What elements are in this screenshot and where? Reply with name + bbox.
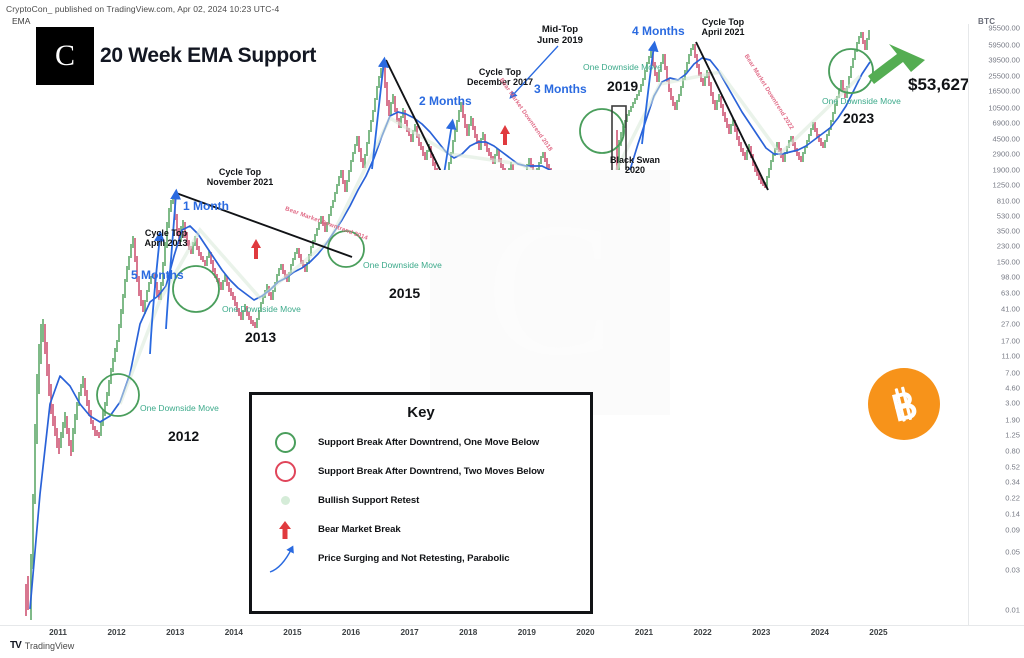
time-axis-tick: 2012 xyxy=(107,628,125,637)
tradingview-footer-label: TradingView xyxy=(25,641,75,651)
price-axis-tick: 39500.00 xyxy=(988,55,1020,64)
price-axis-tick: 10500.00 xyxy=(988,103,1020,112)
parabolic-arrow-2021 xyxy=(642,46,654,144)
price-axis-tick: 1900.00 xyxy=(993,165,1020,174)
time-axis-tick: 2014 xyxy=(225,628,243,637)
parabolic-arrow-2013-b xyxy=(166,194,176,329)
annotation-year-2015: 2015 xyxy=(389,285,420,301)
key-label-two-moves-below: Support Break After Downtrend, Two Moves… xyxy=(318,466,544,477)
time-axis-tick: 2015 xyxy=(283,628,301,637)
tradingview-logo-icon: TV xyxy=(10,640,21,651)
time-axis-tick: 2017 xyxy=(400,628,418,637)
price-axis-tick: 1.25 xyxy=(1005,431,1020,440)
price-axis-tick: 98.00 xyxy=(1001,273,1020,282)
price-axis-tick: 25500.00 xyxy=(988,71,1020,80)
bear-break-arrow-2014 xyxy=(251,239,261,259)
chart-page: CryptoCon_ published on TradingView.com,… xyxy=(0,0,1024,658)
price-axis-tick: 0.14 xyxy=(1005,510,1020,519)
annotation-months-5: 5 Months xyxy=(131,269,184,283)
price-axis-tick: 810.00 xyxy=(997,196,1020,205)
price-axis-tick: 59500.00 xyxy=(988,40,1020,49)
key-title: Key xyxy=(252,404,590,421)
price-axis-tick: 2900.00 xyxy=(993,150,1020,159)
price-axis-tick: 0.22 xyxy=(1005,494,1020,503)
price-axis-tick: 1.90 xyxy=(1005,415,1020,424)
price-axis-tick: 0.03 xyxy=(1005,566,1020,575)
annotation-months-3: 3 Months xyxy=(534,83,587,97)
time-axis-tick: 2018 xyxy=(459,628,477,637)
key-row-bear-market-break: Bear Market Break xyxy=(252,515,590,544)
annotation-months-1: 1 Month xyxy=(183,200,229,214)
price-axis-tick: 0.34 xyxy=(1005,478,1020,487)
price-axis-tick: 0.52 xyxy=(1005,462,1020,471)
annotation-year-2012: 2012 xyxy=(168,428,199,444)
price-axis-tick: 6900.00 xyxy=(993,119,1020,128)
tradingview-footer: TV TradingView xyxy=(10,640,74,651)
watermark-shade xyxy=(430,170,670,415)
red-ring-icon xyxy=(252,461,318,482)
annotation-months-4: 4 Months xyxy=(632,25,685,39)
time-axis-tick: 2011 xyxy=(49,628,67,637)
price-axis-tick: 0.09 xyxy=(1005,526,1020,535)
bitcoin-b-glyph xyxy=(881,381,927,427)
cryptocon-logo: C xyxy=(36,27,94,85)
price-axis-tick: 17.00 xyxy=(1001,336,1020,345)
annotation-year-2013: 2013 xyxy=(245,329,276,345)
key-rows: Support Break After Downtrend, One Move … xyxy=(252,428,590,573)
time-axis-tick: 2021 xyxy=(635,628,653,637)
price-axis-tick: 4.60 xyxy=(1005,383,1020,392)
cryptocon-logo-glyph: C xyxy=(55,41,75,71)
annotation-current-price: $53,627 xyxy=(908,75,969,95)
annotation-one-downside-move-2013: One Downside Move xyxy=(222,305,301,315)
key-row-parabolic: Price Surging and Not Retesting, Parabol… xyxy=(252,544,590,573)
time-axis-tick: 2020 xyxy=(576,628,594,637)
annotation-mid-top-june-2019: Mid-Top June 2019 xyxy=(520,25,600,47)
price-axis-tick: 27.00 xyxy=(1001,319,1020,328)
annotation-one-downside-move-2015: One Downside Move xyxy=(363,261,442,271)
key-row-one-move-below: Support Break After Downtrend, One Move … xyxy=(252,428,590,457)
attribution-text: CryptoCon_ published on TradingView.com,… xyxy=(6,4,279,14)
time-axis-tick: 2023 xyxy=(752,628,770,637)
key-row-two-moves-below: Support Break After Downtrend, Two Moves… xyxy=(252,457,590,486)
green-ring-icon xyxy=(252,432,318,453)
annotation-cycle-top-april-2021: Cycle Top April 2021 xyxy=(678,17,768,38)
price-axis-tick: 0.05 xyxy=(1005,547,1020,556)
price-axis-tick: 0.01 xyxy=(1005,606,1020,615)
annotation-one-downside-move-2012: One Downside Move xyxy=(140,404,219,414)
downtrend-line-2022 xyxy=(696,42,768,190)
annotation-cycle-top-april-2013: Cycle Top April 2013 xyxy=(136,228,196,249)
price-axis-tick: 16500.00 xyxy=(988,87,1020,96)
price-axis-tick: 4500.00 xyxy=(993,134,1020,143)
price-axis-tick: 7.00 xyxy=(1005,368,1020,377)
bear-break-arrow-2018 xyxy=(500,125,510,145)
annotation-months-2: 2 Months xyxy=(419,95,472,109)
time-axis-tick: 2025 xyxy=(869,628,887,637)
price-axis[interactable]: 95500.0059500.0039500.0025500.0016500.00… xyxy=(968,24,1024,620)
key-label-one-move-below: Support Break After Downtrend, One Move … xyxy=(318,437,539,448)
blue-curve-arrow-icon xyxy=(252,544,318,574)
price-axis-tick: 350.00 xyxy=(997,227,1020,236)
annotation-one-downside-move-2023: One Downside Move xyxy=(822,97,901,107)
price-axis-tick: 11.00 xyxy=(1002,352,1020,361)
price-axis-tick: 1250.00 xyxy=(993,180,1020,189)
key-label-bear-market-break: Bear Market Break xyxy=(318,524,401,535)
support-break-circle-2012 xyxy=(97,374,139,416)
annotation-year-2019: 2019 xyxy=(607,78,638,94)
annotation-black-swan-2020: Black Swan 2020 xyxy=(595,155,675,176)
price-axis-tick: 230.00 xyxy=(997,242,1020,251)
time-axis-tick: 2024 xyxy=(811,628,829,637)
time-axis[interactable]: 2011201220132014201520162017201820192020… xyxy=(0,626,968,646)
price-axis-tick: 150.00 xyxy=(997,257,1020,266)
time-axis-tick: 2019 xyxy=(518,628,536,637)
chart-title: 20 Week EMA Support xyxy=(100,44,316,68)
annotation-cycle-top-november-2021: Cycle Top November 2021 xyxy=(190,167,290,188)
price-axis-tick: 530.00 xyxy=(997,212,1020,221)
bitcoin-logo-icon xyxy=(868,368,940,440)
annotation-year-2023: 2023 xyxy=(843,110,874,126)
price-axis-tick: 95500.00 xyxy=(988,23,1020,32)
time-axis-tick: 2022 xyxy=(693,628,711,637)
key-label-parabolic: Price Surging and Not Retesting, Parabol… xyxy=(318,553,509,564)
pale-green-dot-icon xyxy=(252,496,318,505)
key-label-bullish-retest: Bullish Support Retest xyxy=(318,495,419,506)
price-axis-tick: 0.80 xyxy=(1005,447,1020,456)
annotation-one-downside-move-2019: One Downside Move xyxy=(583,63,662,73)
time-axis-tick: 2013 xyxy=(166,628,184,637)
red-up-arrow-icon xyxy=(252,521,318,539)
key-legend-box: Key Support Break After Downtrend, One M… xyxy=(249,392,593,614)
price-axis-tick: 63.00 xyxy=(1001,289,1020,298)
key-row-bullish-retest: Bullish Support Retest xyxy=(252,486,590,515)
time-axis-tick: 2016 xyxy=(342,628,360,637)
price-axis-tick: 3.00 xyxy=(1005,399,1020,408)
price-axis-tick: 41.00 xyxy=(1001,304,1020,313)
